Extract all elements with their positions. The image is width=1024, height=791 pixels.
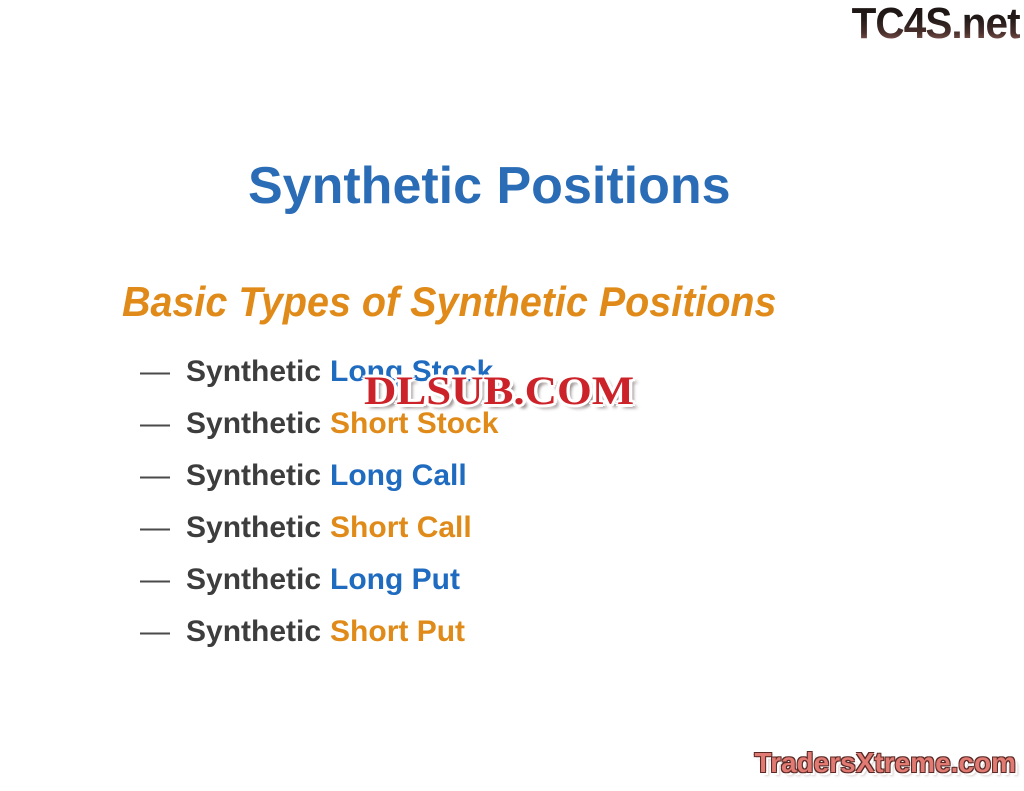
list-item-label: Synthetic [186,563,321,597]
em-dash-bullet-icon: — [140,355,186,389]
list-item-label: Synthetic [186,511,321,545]
em-dash-bullet-icon: — [140,459,186,493]
list-item-label: Synthetic [186,355,321,389]
page-title: Synthetic Positions [248,157,731,215]
em-dash-bullet-icon: — [140,563,186,597]
list-item: — Synthetic Long Call [140,459,900,511]
list-item-label: Synthetic [186,407,321,441]
list-item-label: Synthetic [186,615,321,649]
list-item-value: Long Put [330,563,460,597]
list-item: — Synthetic Short Call [140,511,900,563]
slide-subtitle: Basic Types of Synthetic Positions [122,278,777,326]
list-item-value: Short Put [330,615,465,649]
em-dash-bullet-icon: — [140,615,186,649]
tradersxtreme-logo: TradersXtreme.com [755,747,1016,779]
tc4s-logo: TC4S.net [852,2,1020,46]
list-item-label: Synthetic [186,459,321,493]
list-item-value: Long Call [330,459,467,493]
slide-canvas: TC4S.net Synthetic Positions Basic Types… [0,0,1024,791]
em-dash-bullet-icon: — [140,407,186,441]
em-dash-bullet-icon: — [140,511,186,545]
list-item: — Synthetic Short Put [140,615,900,667]
list-item: — Synthetic Short Stock [140,407,900,459]
list-item-value: Short Call [330,511,472,545]
dlsub-watermark: DLSUB.COM [364,369,634,413]
list-item: — Synthetic Long Put [140,563,900,615]
